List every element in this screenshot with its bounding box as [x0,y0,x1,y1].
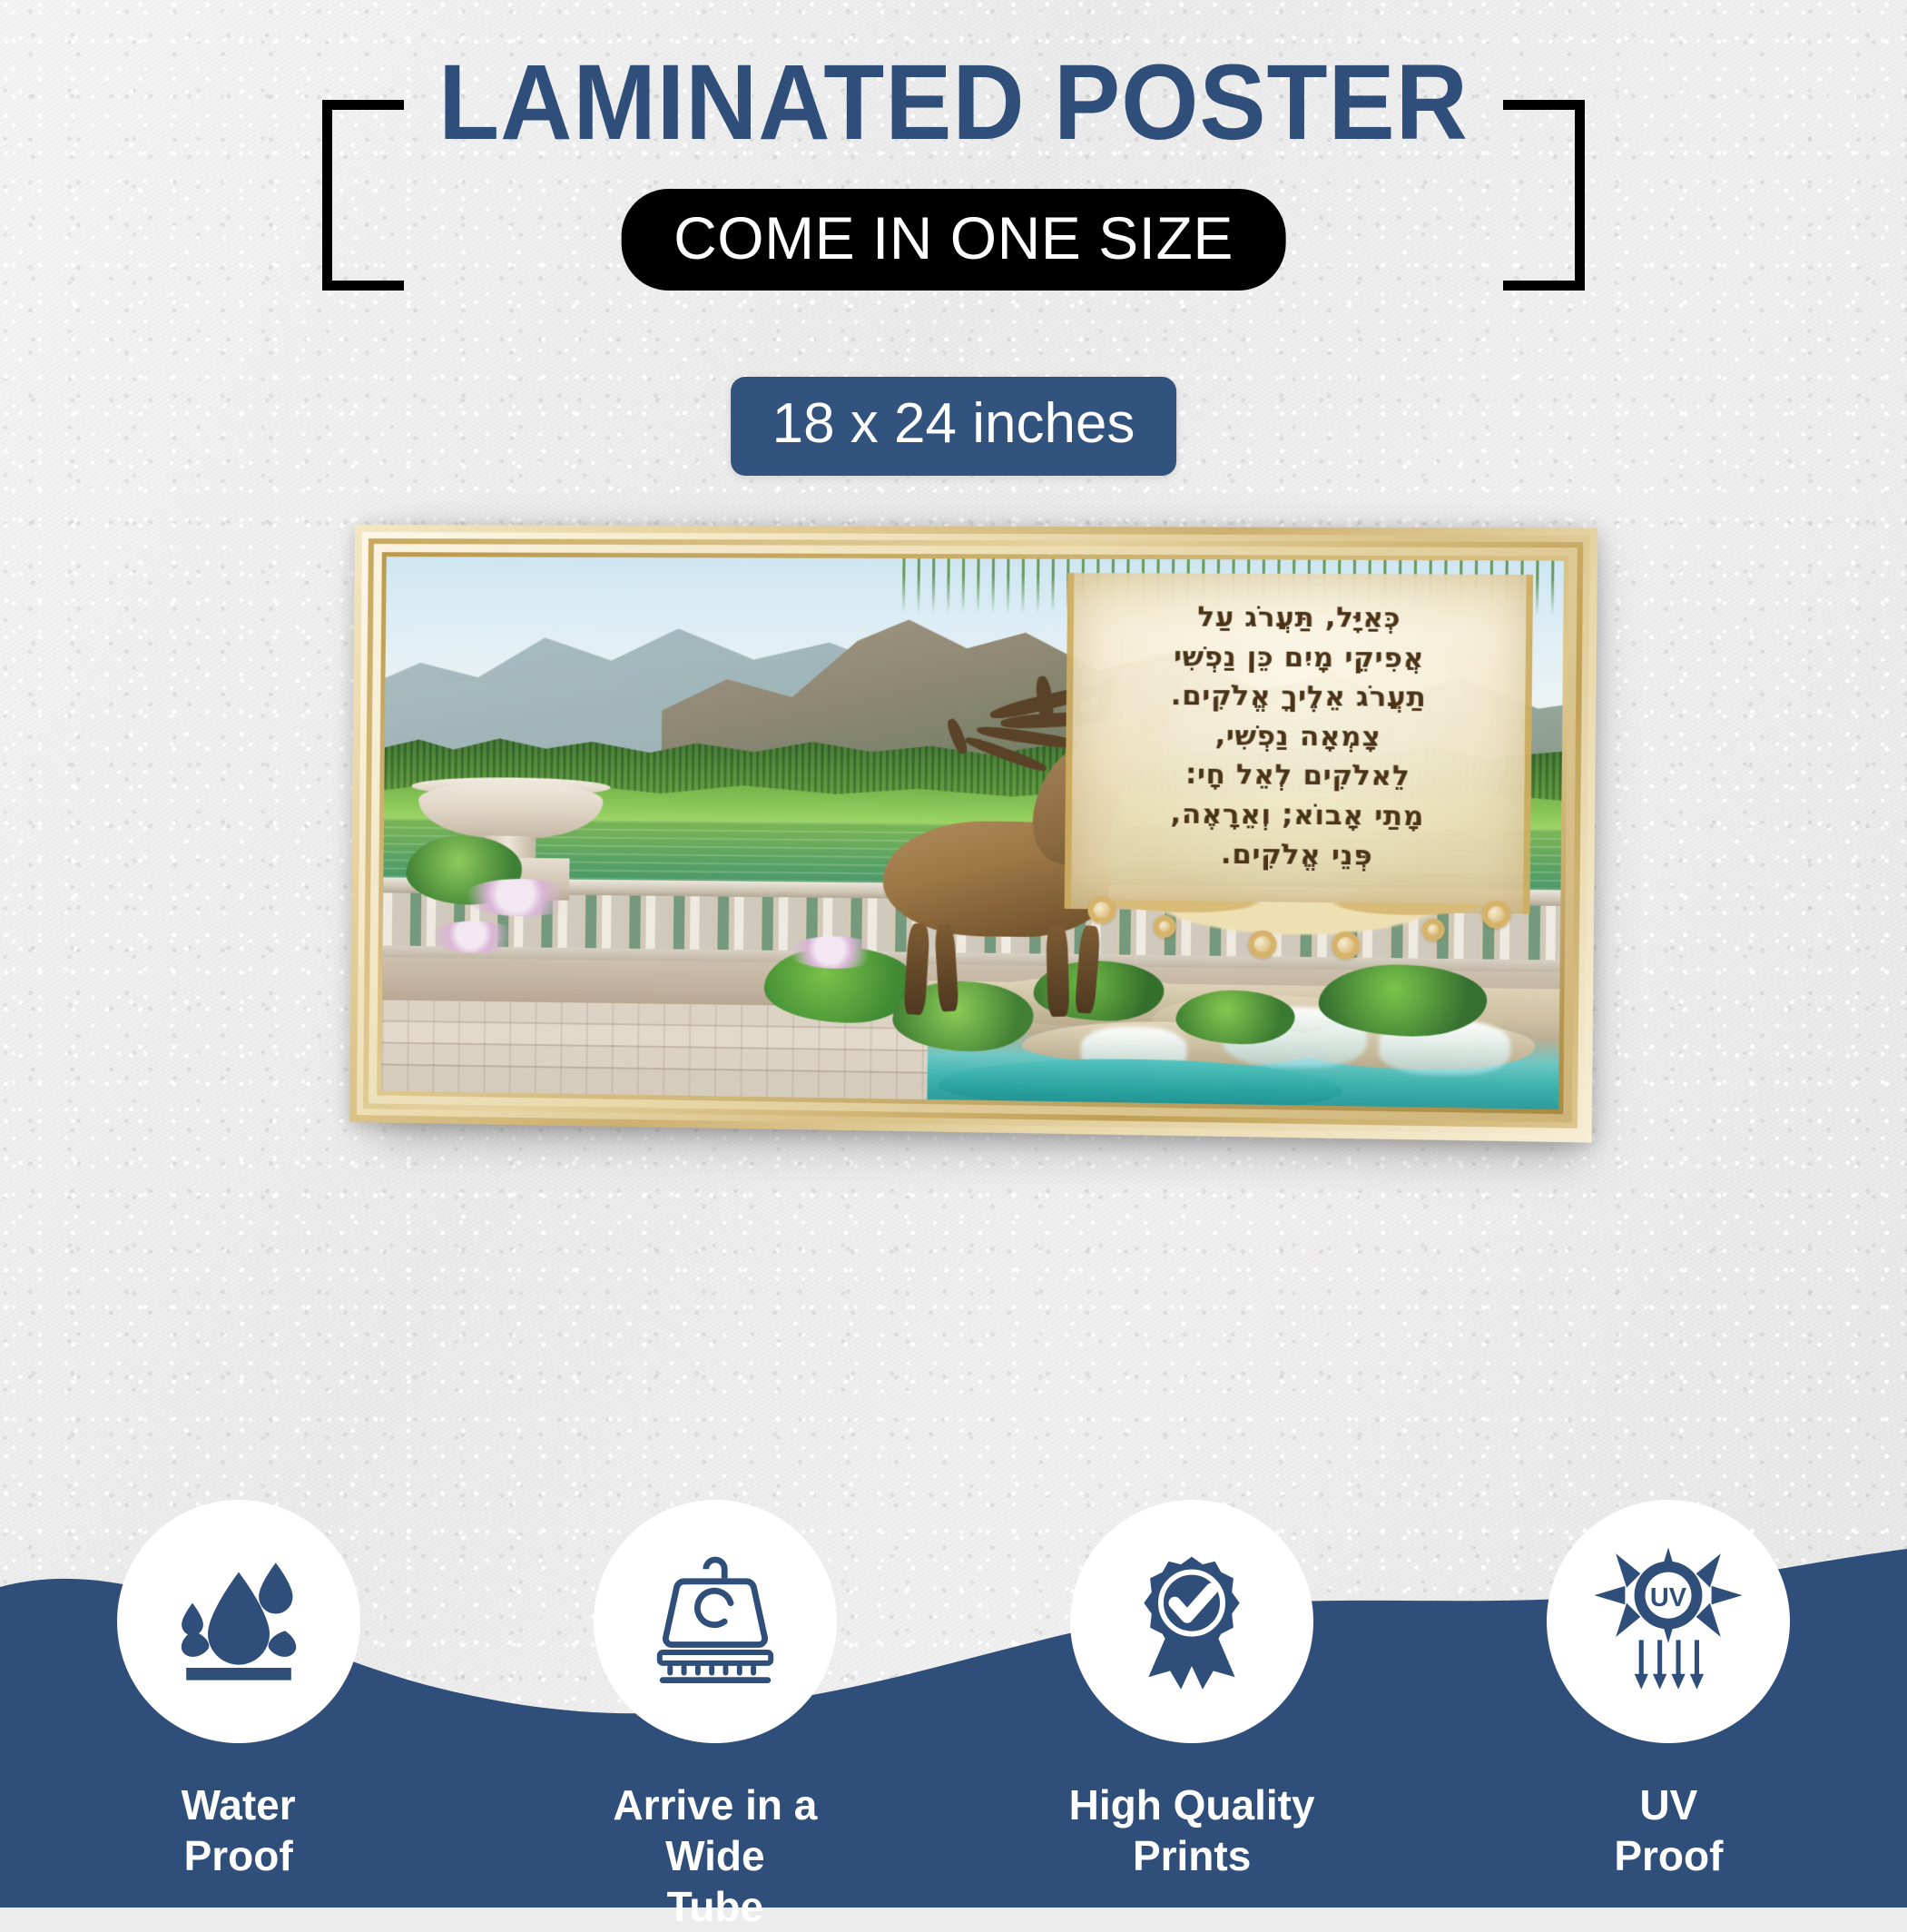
scroll-filigree-curl [1482,900,1511,928]
uv-sun-icon: UV [1591,1544,1745,1699]
verse-line: מָתַי אָבוֹא; וְאֵרָאֶה, [1170,795,1424,837]
feature-uv-proof: UV UVProof [1430,1500,1907,1907]
poster-preview: כְּאַיָּל, תַּעֲרֹג עַל אֲפִיקֵי מָיִם כ… [352,525,1562,1122]
verse-line: תַעֲרֹג אֵלֶיךָ אֱלֹקִים. [1171,677,1427,718]
feature-row: WaterProof Arrive in a Wi [0,1500,1907,1907]
stag-leg [1047,925,1070,1017]
poster-artwork: כְּאַיָּל, תַּעֲרֹג עַל אֲפִיקֵי מָיִם כ… [381,557,1564,1109]
hebrew-verse-text: כְּאַיָּל, תַּעֲרֹג עַל אֲפִיקֵי מָיִם כ… [1076,584,1521,892]
header: LAMINATED POSTER COME IN ONE SIZE [0,0,1907,381]
scroll-filigree-curl [1087,896,1116,924]
scroll-filigree-curl [1248,930,1277,958]
verse-line: אֲפִיקֵי מָיִם כֵּן נַפְשִׁי [1174,637,1424,678]
svg-text:UV: UV [1650,1583,1687,1612]
page-title: LAMINATED POSTER [67,47,1841,160]
feature-water-proof: WaterProof [0,1500,477,1907]
quality-badge-icon [1115,1544,1269,1699]
feature-label: High QualityPrints [1069,1779,1315,1881]
verse-line: כְּאַיָּל, תַּעֲרֹג עַל [1197,598,1401,639]
scroll-filigree-curl [1421,919,1444,941]
verse-line: צָמְאָה נַפְשִׁי, [1214,716,1381,757]
urn-bowl [418,782,604,840]
scroll-filigree-curl [1332,931,1361,960]
feature-label: Arrive in a WideTube [565,1779,865,1932]
feature-icon-circle [1070,1500,1313,1743]
verse-line: לֵאלֹקִים לְאֵל חָי: [1185,756,1411,798]
feature-wide-tube: Arrive in a WideTube [477,1500,953,1907]
shipping-tube-icon [638,1544,792,1699]
water-drop-icon [162,1544,316,1699]
scroll-filigree-curl [1153,915,1175,938]
framed-poster: כְּאַיָּל, תַּעֲרֹג עַל אֲפִיקֵי מָיִם כ… [349,525,1597,1143]
feature-high-quality: High QualityPrints [954,1500,1430,1907]
feature-icon-circle: UV [1547,1500,1790,1743]
subtitle-pill: COME IN ONE SIZE [621,189,1286,291]
size-badge: 18 x 24 inches [731,377,1177,476]
verse-line: פְּנֵי אֱלֹקִים. [1221,835,1373,876]
feature-icon-circle [117,1500,360,1743]
feature-label: WaterProof [182,1779,296,1881]
feature-label: UVProof [1614,1779,1723,1881]
feature-icon-circle [594,1500,837,1743]
antler-tine [945,717,969,755]
